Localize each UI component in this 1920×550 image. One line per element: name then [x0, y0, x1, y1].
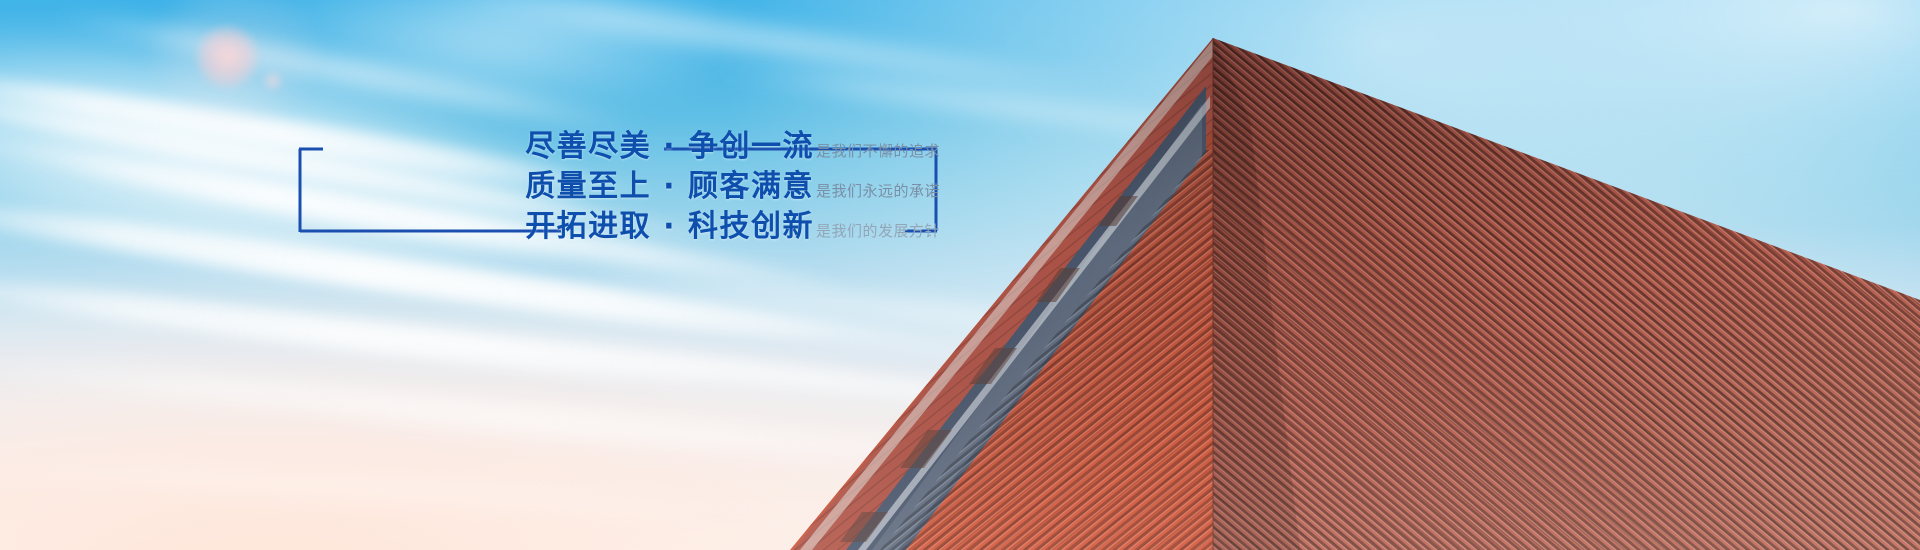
- slogan-line-1: 尽善尽美 · 争创一流是我们不懈的追求: [300, 132, 940, 162]
- bracket-frame: [0, 0, 1920, 550]
- slogan-2-sub: 是我们永远的承诺: [816, 182, 940, 200]
- slogan-3-main: 开拓进取 · 科技创新: [525, 209, 814, 244]
- slogan-line-2: 质量至上 · 顾客满意是我们永远的承诺: [300, 172, 940, 202]
- slogan-line-3: 开拓进取 · 科技创新是我们的发展方针: [300, 212, 940, 242]
- slogan-3-sub: 是我们的发展方针: [816, 222, 940, 240]
- slogan-block: 尽善尽美 · 争创一流是我们不懈的追求 质量至上 · 顾客满意是我们永远的承诺 …: [300, 132, 940, 242]
- slogan-1-sub: 是我们不懈的追求: [816, 142, 940, 160]
- slogan-1-main: 尽善尽美 · 争创一流: [525, 129, 814, 164]
- slogan-2-main: 质量至上 · 顾客满意: [525, 169, 814, 204]
- hero-banner: 尽善尽美 · 争创一流是我们不懈的追求 质量至上 · 顾客满意是我们永远的承诺 …: [0, 0, 1920, 550]
